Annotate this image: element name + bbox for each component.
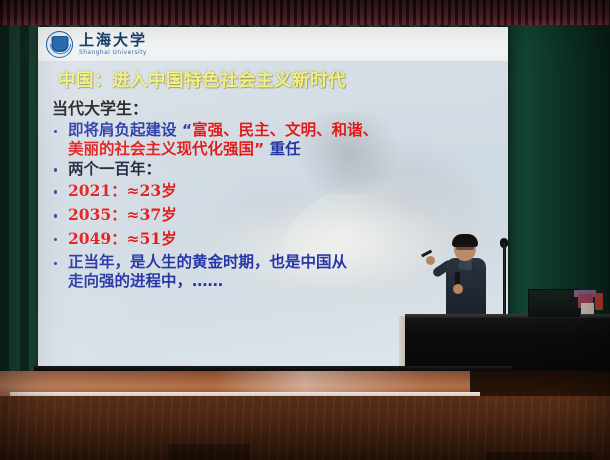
bullet-text: 美丽的社会主义现代化强国” [68, 140, 264, 158]
bullet-text: 走向强的进程中，…… [68, 272, 223, 290]
slide-title: 中国：进入中国特色社会主义新时代 [58, 67, 502, 92]
shanghai-university-seal-icon [46, 31, 73, 58]
list-item: 2021：≈23岁 [46, 182, 502, 201]
microphone-stand [503, 243, 506, 321]
slide-subtitle: 当代大学生： [52, 95, 502, 119]
bullet-text: 重任 [264, 140, 300, 158]
bullet-text: 正当年，是人生的黄金时期，也是中国从 [68, 253, 347, 271]
logo-chinese-name: 上海大学 [79, 33, 147, 48]
stage-front-panel [0, 396, 610, 460]
stage-panel [168, 444, 250, 460]
slide-header-band: 上海大学 Shanghai University [38, 27, 508, 61]
list-item: 即将肩负起建设 “富强、民主、文明、和谐、 美丽的社会主义现代化强国” 重任 [46, 121, 502, 159]
logo-text-block: 上海大学 Shanghai University [79, 33, 147, 56]
bullet-text: 2049：≈51岁 [68, 229, 177, 248]
stage-panel [486, 452, 594, 460]
stage-curtain-right-panel [497, 25, 610, 325]
bullet-text: 即将肩负起建设 “ [68, 121, 192, 139]
bullet-text: 2035：≈37岁 [68, 205, 177, 224]
lecture-hall-photo: 上海大学 Shanghai University 中国：进入中国特色社会主义新时… [0, 0, 610, 460]
bullet-text: 富强、民主、文明、和谐、 [192, 121, 378, 139]
stage-shadow-right [470, 371, 610, 398]
slide-bullet-list: 即将肩负起建设 “富强、民主、文明、和谐、 美丽的社会主义现代化强国” 重任 两… [46, 121, 502, 291]
stage-valance [0, 0, 610, 27]
desk-item-cup [581, 303, 594, 314]
glasses-icon [456, 245, 474, 250]
list-item: 2049：≈51岁 [46, 230, 502, 249]
confidence-monitor [528, 289, 580, 317]
logo-english-name: Shanghai University [79, 50, 147, 56]
bullet-text: 2021：≈23岁 [68, 181, 177, 200]
desk-item-bottle [595, 293, 603, 310]
list-item: 两个一百年： [46, 160, 502, 179]
list-item: 2035：≈37岁 [46, 206, 502, 225]
bullet-text: 两个一百年： [68, 160, 161, 178]
